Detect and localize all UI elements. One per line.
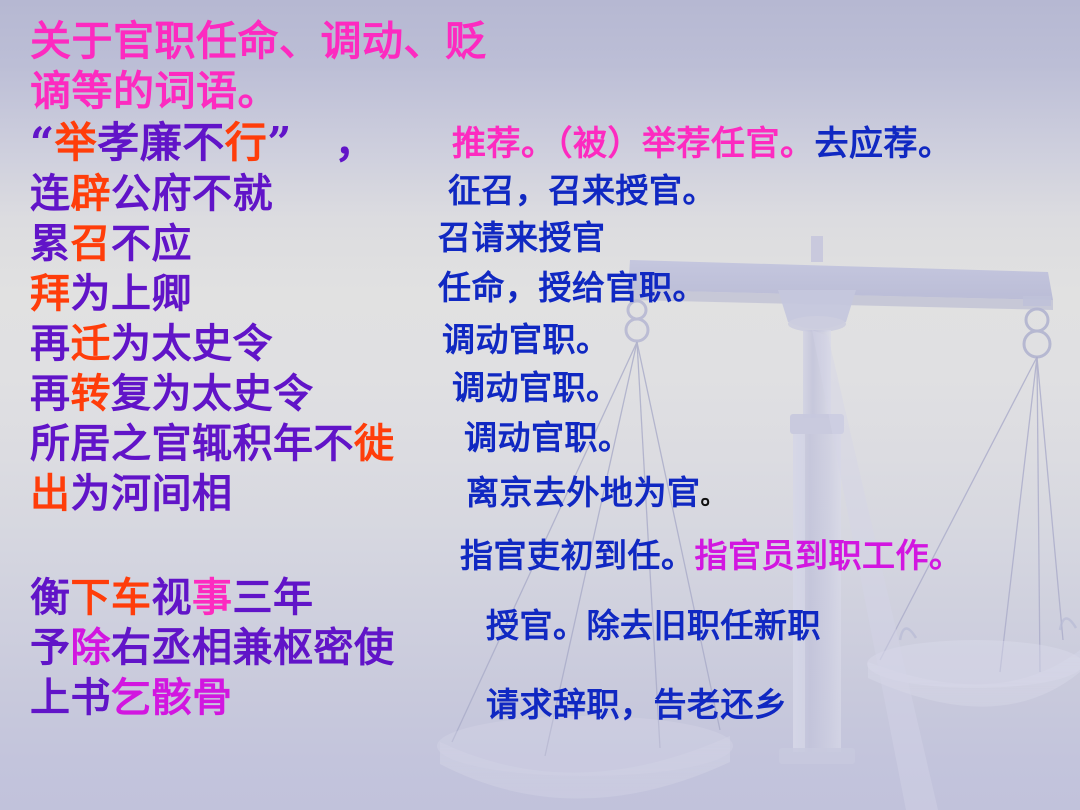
text-gongfubujiu: 公府不就 [111, 170, 273, 217]
gloss-diaodong-1-text: 调动官职。 [442, 320, 610, 359]
text-youchengxiang: 右丞相兼枢密使 [111, 624, 395, 671]
text-shangshu: 上书 [30, 674, 111, 721]
line-lei-zhao: 累召不应 [30, 219, 487, 269]
line-shang-shu-qi-hai-gu: 上书乞骸骨 [30, 673, 487, 723]
keyword-ju: 举 [55, 118, 98, 167]
line-zai-zhuan: 再转复为太史令 [30, 369, 487, 419]
keyword-chu: 出 [30, 470, 71, 517]
text-sannian: 三年 [233, 574, 314, 621]
paragraph-spacer [30, 519, 487, 573]
line-zai-qian: 再迁为太史令 [30, 319, 487, 369]
keyword-xiache: 下车 [71, 574, 152, 621]
text-lian: 连 [30, 170, 71, 217]
gloss-tuijian-pink: 推荐。（被）举荐任官。 [452, 124, 815, 164]
keyword-zhuan: 转 [71, 370, 112, 417]
line-bai-wei-shangqing: 拜为上卿 [30, 269, 487, 319]
text-yu: 予 [30, 624, 71, 671]
line-chu-wei-hejian: 出为河间相 [30, 469, 487, 519]
text-weitaishiling-1: 为太史令 [111, 320, 273, 367]
right-gloss-column: 推荐。（被）举荐任官。去应荐。 征召，召来授官。 召请来授官 任命，授给官职。 … [438, 122, 963, 745]
text-zai-2: 再 [30, 370, 71, 417]
gloss-diao-dong-2: 调动官职。 [438, 364, 963, 412]
gloss-diaodong-2-text: 调动官职。 [452, 368, 620, 407]
gloss-zhiguanyuan-magenta: 指官员到职工作。 [695, 536, 963, 575]
line-lian-bi: 连辟公府不就 [30, 169, 487, 219]
line-quote-ju-xiao-lian: “举孝廉不行” ， [30, 116, 487, 169]
gloss-diao-dong-1: 调动官职。 [438, 316, 963, 364]
keyword-zhao: 召 [71, 220, 112, 267]
keyword-shi2: 事 [192, 574, 233, 621]
text-xiaolianbu: 孝廉不 [97, 118, 225, 167]
quote-open-mark: “ [30, 118, 55, 167]
gloss-diao-dong-3: 调动官职。 [438, 412, 963, 464]
line-heng-xia-che: 衡下车视事三年 [30, 573, 487, 623]
page-title-line-1: 关于官职任命、调动、贬 [30, 16, 487, 66]
keyword-qian: 迁 [71, 320, 112, 367]
line-suo-ju-zhi-guan: 所居之官辄积年不徙 [30, 419, 487, 469]
quote-close-mark: ” ， [267, 118, 377, 167]
gloss-shou-guan: 授官。除去旧职任新职 [438, 587, 963, 665]
text-suojuzhiguan: 所居之官辄积年不 [30, 420, 354, 467]
text-heng: 衡 [30, 574, 71, 621]
gloss-lijing-text: 离京去外地为官 [466, 473, 701, 512]
text-shi: 视 [152, 574, 193, 621]
gloss-qingqiucizhi-text: 请求辞职，告老还乡 [486, 685, 788, 724]
gloss-tui-jian: 推荐。（被）举荐任官。去应荐。 [438, 122, 963, 166]
line-yu-chu-you-chengxiang: 予除右丞相兼枢密使 [30, 623, 487, 673]
gloss-diaodong-3-text: 调动官职。 [464, 418, 632, 457]
gloss-lijing-period: 。 [701, 481, 726, 510]
gloss-zhengzhao-text: 征召，召来授官。 [448, 171, 716, 210]
gloss-zhao-qing: 召请来授官 [438, 216, 963, 260]
text-buying: 不应 [111, 220, 192, 267]
keyword-xing: 行 [225, 118, 268, 167]
keyword-qihaigu: 乞骸骨 [111, 674, 233, 721]
page-title-line-2: 谪等的词语。 [30, 66, 487, 116]
gloss-renming-text: 任命，授给官职。 [438, 268, 706, 307]
keyword-bi: 辟 [71, 170, 112, 217]
gloss-ren-ming: 任命，授给官职。 [438, 260, 963, 316]
text-lei: 累 [30, 220, 71, 267]
left-text-column: 关于官职任命、调动、贬 谪等的词语。 “举孝廉不行” ， 连辟公府不就 累召不应… [30, 16, 487, 723]
gloss-zheng-zhao: 征召，召来授官。 [438, 166, 963, 216]
gloss-shouguan-text: 授官。除去旧职任新职 [486, 606, 821, 645]
text-fuweitaishiling: 复为太史令 [111, 370, 314, 417]
gloss-quyingjian: 去应荐。 [815, 124, 953, 164]
gloss-zhiguanli-blue: 指官吏初到任。 [460, 536, 695, 575]
gloss-zhaoqing-text: 召请来授官 [438, 218, 606, 257]
text-weishangqing: 为上卿 [71, 270, 193, 317]
text-weihejianxiang: 为河间相 [71, 470, 233, 517]
slide-canvas: 关于官职任命、调动、贬 谪等的词语。 “举孝廉不行” ， 连辟公府不就 累召不应… [0, 0, 1080, 810]
keyword-xi: 徙 [354, 420, 395, 467]
keyword-bai: 拜 [30, 270, 71, 317]
gloss-zhi-guan-li: 指官吏初到任。指官员到职工作。 [438, 525, 963, 587]
keyword-chu2: 除 [71, 624, 112, 671]
gloss-li-jing: 离京去外地为官。 [438, 464, 963, 525]
gloss-qing-qiu-ci-zhi: 请求辞职，告老还乡 [438, 665, 963, 745]
text-zai-1: 再 [30, 320, 71, 367]
